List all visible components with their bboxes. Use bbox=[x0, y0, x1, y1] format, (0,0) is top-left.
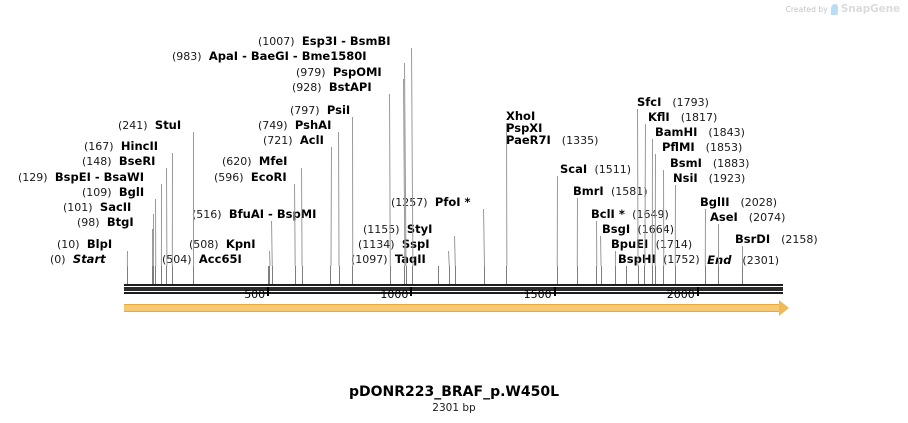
enzyme-label-styi[interactable]: (1155) StyI bbox=[363, 223, 432, 236]
enzyme-name: KpnI bbox=[226, 237, 256, 251]
leader-line bbox=[596, 221, 597, 266]
cut-site-tick bbox=[644, 266, 645, 284]
enzyme-name-separator: - bbox=[91, 170, 104, 184]
enzyme-position: (10) bbox=[57, 238, 80, 251]
enzyme-position: (983) bbox=[172, 50, 202, 63]
enzyme-label-xhoi[interactable]: XhoIPspXIPaeR7I (1335) bbox=[506, 110, 598, 147]
enzyme-position: (148) bbox=[82, 155, 112, 168]
enzyme-star-marker: * bbox=[615, 207, 625, 221]
watermark-created-by-text: Created by bbox=[786, 5, 828, 14]
cut-site-tick bbox=[626, 266, 627, 284]
backbone-line-top bbox=[124, 284, 783, 286]
enzyme-name: BsaWI bbox=[104, 170, 144, 184]
scale-tick-2000 bbox=[697, 287, 699, 296]
enzyme-name: PshAI bbox=[295, 118, 331, 132]
scale-tick-1000 bbox=[410, 287, 412, 296]
leader-line bbox=[155, 199, 156, 266]
enzyme-name: BaeGI bbox=[251, 49, 289, 63]
enzyme-name: PsiI bbox=[327, 103, 350, 117]
cut-site-tick bbox=[742, 266, 743, 284]
enzyme-name: NsiI bbox=[673, 171, 698, 185]
leader-line bbox=[338, 132, 340, 266]
cut-site-tick bbox=[155, 266, 156, 284]
leader-line bbox=[352, 117, 353, 266]
cut-site-tick bbox=[455, 266, 456, 284]
enzyme-name: PflMI bbox=[662, 140, 695, 154]
cut-site-tick bbox=[272, 266, 273, 284]
cut-site-tick bbox=[705, 266, 706, 284]
enzyme-label-bstapi[interactable]: (928) BstAPI bbox=[292, 81, 372, 94]
enzyme-name: BsmI bbox=[670, 156, 702, 170]
enzyme-label-btgi[interactable]: (98) BtgI bbox=[77, 216, 134, 229]
enzyme-label-start[interactable]: (0) Start bbox=[50, 253, 106, 266]
enzyme-position: (1097) bbox=[351, 253, 388, 266]
enzyme-name: BspEI bbox=[55, 170, 91, 184]
enzyme-name-separator: - bbox=[289, 49, 302, 63]
enzyme-name: BmrI bbox=[573, 184, 604, 198]
cut-site-tick bbox=[161, 266, 162, 284]
enzyme-name: PaeR7I bbox=[506, 133, 551, 147]
enzyme-position: (1155) bbox=[363, 223, 400, 236]
enzyme-name: BglII bbox=[700, 195, 730, 209]
enzyme-name: ApaI bbox=[209, 49, 238, 63]
leader-line bbox=[161, 184, 162, 266]
enzyme-label-scai[interactable]: ScaI (1511) bbox=[560, 163, 631, 176]
enzyme-name: SacII bbox=[100, 200, 131, 214]
cut-site-tick bbox=[601, 266, 602, 284]
enzyme-position: (241) bbox=[118, 119, 148, 132]
enzyme-name: End bbox=[707, 253, 731, 267]
enzyme-tick-marks bbox=[124, 266, 783, 284]
enzyme-position: (928) bbox=[292, 81, 322, 94]
enzyme-label-bsrdi[interactable]: BsrDI (2158) bbox=[735, 233, 818, 246]
cut-site-tick bbox=[352, 266, 353, 284]
enzyme-name: BtgI bbox=[107, 215, 134, 229]
leader-line bbox=[663, 170, 664, 266]
enzyme-label-stui[interactable]: (241) StuI bbox=[118, 119, 181, 132]
enzyme-position: (1817) bbox=[681, 111, 718, 124]
cut-site-tick bbox=[390, 266, 391, 284]
enzyme-name: BspMI bbox=[277, 207, 317, 221]
enzyme-position: (1335) bbox=[562, 134, 599, 147]
enzyme-label-pshai[interactable]: (749) PshAI bbox=[258, 119, 331, 132]
enzyme-name: PspOMI bbox=[333, 65, 382, 79]
cut-site-tick bbox=[193, 266, 194, 284]
enzyme-name-separator: - bbox=[337, 34, 350, 48]
enzyme-label-esp3i[interactable]: (1007) Esp3I - BsmBI bbox=[258, 35, 391, 48]
leader-line bbox=[718, 224, 719, 266]
cut-site-tick bbox=[302, 266, 303, 284]
enzyme-label-sspi[interactable]: (1134) SspI bbox=[358, 238, 430, 251]
enzyme-label-bamhi[interactable]: BamHI (1843) bbox=[655, 126, 745, 139]
enzyme-name: BamHI bbox=[655, 125, 697, 139]
leader-line bbox=[127, 251, 128, 266]
enzyme-position: (1883) bbox=[713, 157, 750, 170]
enzyme-name: HincII bbox=[121, 139, 158, 153]
enzyme-name: Bme1580I bbox=[302, 49, 367, 63]
enzyme-position: (596) bbox=[214, 171, 244, 184]
leader-line bbox=[411, 48, 413, 266]
enzyme-name: BfuAI bbox=[229, 207, 264, 221]
cut-site-tick bbox=[506, 266, 507, 284]
enzyme-label-psii[interactable]: (797) PsiI bbox=[290, 104, 350, 117]
enzyme-label-bgli[interactable]: (109) BglI bbox=[82, 186, 144, 199]
enzyme-name: BsrDI bbox=[735, 232, 770, 246]
snapgene-dna-logo-icon bbox=[830, 4, 838, 15]
cut-site-tick bbox=[718, 266, 719, 284]
enzyme-label-blpi[interactable]: (10) BlpI bbox=[57, 238, 112, 251]
plasmid-size: 2301 bp bbox=[0, 402, 908, 414]
enzyme-position: (797) bbox=[290, 104, 320, 117]
enzyme-label-acli[interactable]: (721) AclI bbox=[263, 134, 324, 147]
enzyme-position: (129) bbox=[18, 171, 48, 184]
cut-site-tick bbox=[652, 266, 653, 284]
enzyme-label-bfuai[interactable]: (516) BfuAI - BspMI bbox=[192, 208, 316, 221]
leader-line bbox=[742, 246, 743, 266]
enzyme-name: BglI bbox=[119, 185, 144, 199]
watermark-brand-text: SnapGene bbox=[841, 3, 900, 15]
enzyme-name: AseI bbox=[710, 210, 738, 224]
cut-site-tick bbox=[166, 266, 167, 284]
leader-line bbox=[153, 214, 154, 266]
enzyme-name: BsgI bbox=[602, 222, 630, 236]
leader-line bbox=[389, 94, 391, 266]
enzyme-label-kpni[interactable]: (508) KpnI bbox=[189, 238, 256, 251]
enzyme-position: (516) bbox=[192, 208, 222, 221]
enzyme-name-separator: - bbox=[264, 207, 277, 221]
enzyme-position: (1511) bbox=[594, 163, 631, 176]
cut-site-tick bbox=[330, 266, 331, 284]
cut-site-tick bbox=[153, 266, 154, 284]
enzyme-name: BstAPI bbox=[329, 80, 372, 94]
enzyme-position: (2074) bbox=[749, 211, 786, 224]
leader-line bbox=[330, 147, 332, 266]
enzyme-label-acc65i[interactable]: (504) Acc65I bbox=[162, 253, 242, 266]
enzyme-name: BpuEI bbox=[611, 237, 648, 251]
cut-site-tick bbox=[557, 266, 558, 284]
enzyme-position: (1007) bbox=[258, 35, 295, 48]
enzyme-label-bspei[interactable]: (129) BspEI - BsaWI bbox=[18, 171, 144, 184]
enzyme-position: (749) bbox=[258, 119, 288, 132]
enzyme-name: PfoI bbox=[435, 195, 461, 209]
plasmid-name: pDONR223_BRAF_p.W450L bbox=[0, 384, 908, 400]
enzyme-name: MfeI bbox=[259, 154, 288, 168]
enzyme-name: AclI bbox=[300, 133, 324, 147]
scale-label-500: 500 bbox=[244, 288, 267, 301]
scale-label-2000: 2000 bbox=[667, 288, 697, 301]
enzyme-name: Esp3I bbox=[302, 34, 337, 48]
leader-line bbox=[269, 251, 270, 266]
cut-site-tick bbox=[269, 266, 270, 284]
enzyme-name: StyI bbox=[407, 222, 433, 236]
cut-site-tick bbox=[655, 266, 656, 284]
orf-feature-arrow-body[interactable] bbox=[124, 304, 779, 312]
scale-tick-500 bbox=[267, 287, 269, 296]
orf-feature-arrow-head bbox=[779, 300, 789, 316]
enzyme-position: (98) bbox=[77, 216, 100, 229]
cut-site-tick bbox=[484, 266, 485, 284]
enzyme-label-bseri[interactable]: (148) BseRI bbox=[82, 155, 155, 168]
cut-site-tick bbox=[663, 266, 664, 284]
leader-line bbox=[454, 236, 456, 266]
enzyme-position: (1923) bbox=[709, 172, 746, 185]
enzyme-name: BclI bbox=[591, 207, 615, 221]
restriction-map-canvas: Created by SnapGene (1007) Esp3I - BsmBI… bbox=[0, 0, 908, 423]
cut-site-tick bbox=[675, 266, 676, 284]
cut-site-tick bbox=[406, 266, 407, 284]
enzyme-label-mfei[interactable]: (620) MfeI bbox=[222, 155, 287, 168]
enzyme-label-bglii[interactable]: BglII (2028) bbox=[700, 196, 777, 209]
enzyme-name: BlpI bbox=[87, 237, 112, 251]
enzyme-label-asei[interactable]: AseI (2074) bbox=[710, 211, 785, 224]
enzyme-star-marker: * bbox=[461, 195, 471, 209]
leader-line bbox=[615, 251, 616, 266]
enzyme-label-pspomi[interactable]: (979) PspOMI bbox=[296, 66, 382, 79]
enzyme-name: StuI bbox=[155, 118, 181, 132]
cut-site-tick bbox=[638, 266, 639, 284]
enzyme-position: (1853) bbox=[706, 141, 743, 154]
enzyme-name: Acc65I bbox=[199, 252, 242, 266]
enzyme-position: (2028) bbox=[740, 196, 777, 209]
enzyme-label-bsmi[interactable]: BsmI (1883) bbox=[670, 157, 749, 170]
enzyme-name: KflI bbox=[648, 110, 670, 124]
enzyme-position: (2158) bbox=[781, 233, 818, 246]
enzyme-label-sfci[interactable]: SfcI (1793) bbox=[637, 96, 709, 109]
enzyme-label-kfli[interactable]: KflI (1817) bbox=[648, 111, 717, 124]
enzyme-position: (1257) bbox=[391, 196, 428, 209]
enzyme-label-sacii[interactable]: (101) SacII bbox=[63, 201, 131, 214]
enzyme-position: (0) bbox=[50, 253, 66, 266]
cut-site-tick bbox=[172, 266, 173, 284]
snapgene-watermark: Created by SnapGene bbox=[786, 3, 900, 15]
scale-label-1500: 1500 bbox=[524, 288, 554, 301]
enzyme-position: (1752) bbox=[663, 253, 700, 266]
enzyme-position: (1793) bbox=[672, 96, 709, 109]
leader-line bbox=[152, 229, 153, 266]
leader-line bbox=[600, 236, 602, 266]
enzyme-position: (979) bbox=[296, 66, 326, 79]
enzyme-name: EcoRI bbox=[251, 170, 287, 184]
enzyme-label-pflmi[interactable]: PflMI (1853) bbox=[662, 141, 742, 154]
enzyme-name: ScaI bbox=[560, 162, 587, 176]
cut-site-tick bbox=[339, 266, 340, 284]
enzyme-label-apai[interactable]: (983) ApaI - BaeGI - Bme1580I bbox=[172, 50, 367, 63]
enzyme-name: BsmBI bbox=[350, 34, 391, 48]
cut-site-tick bbox=[127, 266, 128, 284]
leader-line bbox=[166, 168, 167, 266]
enzyme-position: (109) bbox=[82, 186, 112, 199]
cut-site-tick bbox=[577, 266, 578, 284]
enzyme-name: SfcI bbox=[637, 95, 661, 109]
leader-line bbox=[705, 209, 706, 266]
leader-line bbox=[193, 132, 194, 266]
enzyme-name: TaqII bbox=[395, 252, 426, 266]
leader-line bbox=[271, 221, 273, 266]
leader-line bbox=[557, 176, 558, 266]
leader-line bbox=[652, 139, 653, 266]
enzyme-position: (620) bbox=[222, 155, 252, 168]
enzyme-position: (1581) bbox=[611, 185, 648, 198]
enzyme-label-nsii[interactable]: NsiI (1923) bbox=[673, 172, 745, 185]
cut-site-tick bbox=[412, 266, 413, 284]
leader-line bbox=[294, 184, 296, 266]
enzyme-position: (1843) bbox=[708, 126, 745, 139]
leader-line bbox=[577, 198, 578, 266]
leader-line bbox=[172, 153, 173, 266]
cut-site-tick bbox=[596, 266, 597, 284]
enzyme-name-separator: - bbox=[238, 49, 251, 63]
enzyme-position: (167) bbox=[84, 140, 114, 153]
enzyme-name: BseRI bbox=[119, 154, 156, 168]
cut-site-tick bbox=[295, 266, 296, 284]
enzyme-position: (101) bbox=[63, 201, 93, 214]
cut-site-tick bbox=[449, 266, 450, 284]
enzyme-label-bcli[interactable]: BclI * (1649) bbox=[591, 208, 669, 221]
enzyme-label-ecori[interactable]: (596) EcoRI bbox=[214, 171, 287, 184]
enzyme-label-taqii[interactable]: (1097) TaqII bbox=[351, 253, 426, 266]
leader-line bbox=[448, 251, 450, 266]
enzyme-position: (721) bbox=[263, 134, 293, 147]
cut-site-tick bbox=[615, 266, 616, 284]
scale-tick-1500 bbox=[554, 287, 556, 296]
enzyme-name: Start bbox=[73, 252, 106, 266]
enzyme-label-hincii[interactable]: (167) HincII bbox=[84, 140, 158, 153]
scale-label-1000: 1000 bbox=[380, 288, 410, 301]
cut-site-tick bbox=[438, 266, 439, 284]
enzyme-label-bsphi[interactable]: BspHI (1752) bbox=[618, 253, 700, 266]
leader-line bbox=[483, 209, 485, 266]
